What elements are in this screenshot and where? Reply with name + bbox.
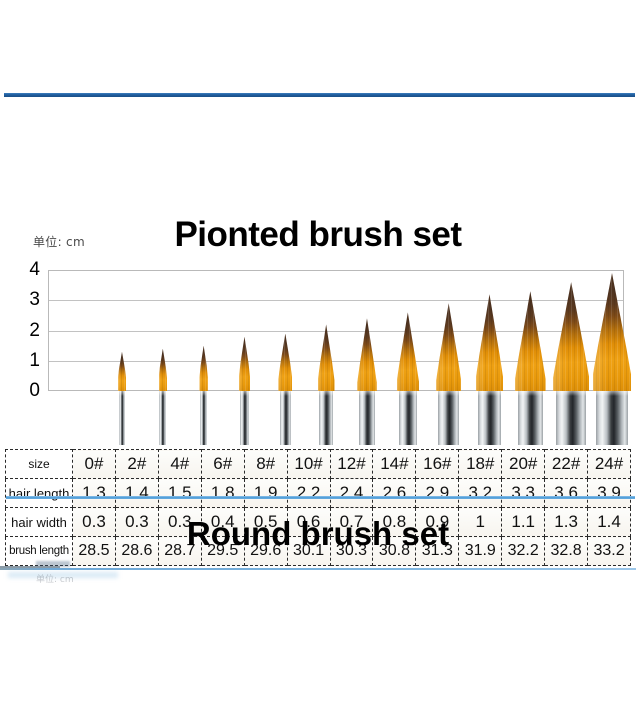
cell-size-12: 24# (588, 450, 631, 479)
brush-hair (318, 324, 335, 391)
ferrule-highlight (200, 391, 207, 396)
brush-20 (515, 270, 546, 391)
bottom-divider-rule (0, 568, 636, 570)
cell-size-10: 20# (502, 450, 545, 479)
cell-size-9: 18# (459, 450, 502, 479)
brush-14 (397, 270, 419, 391)
ferrule-highlight (556, 391, 586, 396)
brush-ferrule (438, 391, 459, 445)
cell-hair-length-7: 2.6 (373, 479, 416, 508)
table-row: size0#2#4#6#8#10#12#14#16#18#20#22#24# (6, 450, 631, 479)
cell-hair-length-10: 3.3 (502, 479, 545, 508)
brush-hair (159, 349, 167, 391)
table-row: hair length1.31.41.51.81.92.22.42.62.93.… (6, 479, 631, 508)
cell-hair-length-4: 1.9 (244, 479, 287, 508)
cell-hair-length-8: 2.9 (416, 479, 459, 508)
cell-hair-length-11: 3.6 (545, 479, 588, 508)
cell-size-6: 12# (330, 450, 373, 479)
brush-hair (199, 346, 207, 391)
brush-hair (239, 337, 250, 391)
cell-size-1: 2# (115, 450, 158, 479)
brush-ferrule (119, 391, 126, 445)
ferrule-highlight (159, 391, 166, 396)
ferrule-highlight (438, 391, 459, 396)
cell-size-0: 0# (73, 450, 116, 479)
cell-size-4: 8# (244, 450, 287, 479)
brush-12 (357, 270, 376, 391)
page-title-round: Round brush set (0, 515, 636, 553)
brush-2 (159, 270, 167, 391)
brush-ferrule (399, 391, 417, 445)
pointed-brush-section: 单位: cm Pionted brush set 01234 size0#2#4… (0, 97, 636, 496)
brush-illustration-layer (0, 270, 636, 445)
brush-24 (593, 270, 632, 391)
brush-hair (278, 334, 292, 391)
brush-22 (553, 270, 589, 391)
cell-size-11: 22# (545, 450, 588, 479)
cell-hair-length-3: 1.8 (201, 479, 244, 508)
cell-hair-length-2: 1.5 (158, 479, 201, 508)
cell-size-2: 4# (158, 450, 201, 479)
brush-ferrule (478, 391, 501, 445)
ferrule-highlight (399, 391, 417, 396)
cell-hair-length-5: 2.2 (287, 479, 330, 508)
brush-ferrule (240, 391, 249, 445)
brush-ferrule (280, 391, 291, 445)
cell-hair-length-9: 3.2 (459, 479, 502, 508)
cell-size-7: 14# (373, 450, 416, 479)
row-header-size: size (6, 450, 73, 479)
unit-label-round: 单位: cm (36, 572, 74, 585)
brush-6 (239, 270, 250, 391)
brush-16 (436, 270, 461, 391)
brush-ferrule (200, 391, 207, 445)
brush-4 (199, 270, 207, 391)
ferrule-highlight (596, 391, 628, 396)
ferrule-highlight (478, 391, 501, 396)
brush-hair (397, 312, 419, 391)
middle-divider-rule (6, 496, 635, 499)
brush-hair (553, 282, 589, 391)
brush-ferrule (359, 391, 375, 445)
ferrule-highlight (319, 391, 333, 396)
cell-hair-length-6: 2.4 (330, 479, 373, 508)
brush-ferrule (518, 391, 543, 445)
brush-ferrule (319, 391, 333, 445)
row-header-hair-length: hair length (6, 479, 73, 508)
brush-10 (318, 270, 335, 391)
brush-hair (476, 294, 504, 391)
page-title-pointed: Pionted brush set (0, 215, 636, 255)
brush-hair (593, 273, 632, 391)
cell-hair-length-0: 1.3 (73, 479, 116, 508)
cell-size-5: 10# (287, 450, 330, 479)
brush-hair (436, 303, 461, 391)
brush-18 (476, 270, 504, 391)
cell-size-8: 16# (416, 450, 459, 479)
cell-size-3: 6# (201, 450, 244, 479)
ferrule-highlight (518, 391, 543, 396)
brush-ferrule (596, 391, 628, 445)
brush-8 (278, 270, 292, 391)
brush-ferrule (159, 391, 166, 445)
cell-hair-length-1: 1.4 (115, 479, 158, 508)
brush-hair (357, 318, 376, 391)
ferrule-highlight (119, 391, 126, 396)
cell-hair-length-12: 3.9 (588, 479, 631, 508)
brush-0 (118, 270, 126, 391)
brush-ferrule (556, 391, 586, 445)
ferrule-highlight (280, 391, 291, 396)
ferrule-highlight (359, 391, 375, 396)
brush-hair (515, 291, 546, 391)
ferrule-highlight (240, 391, 249, 396)
brush-hair (118, 352, 126, 391)
